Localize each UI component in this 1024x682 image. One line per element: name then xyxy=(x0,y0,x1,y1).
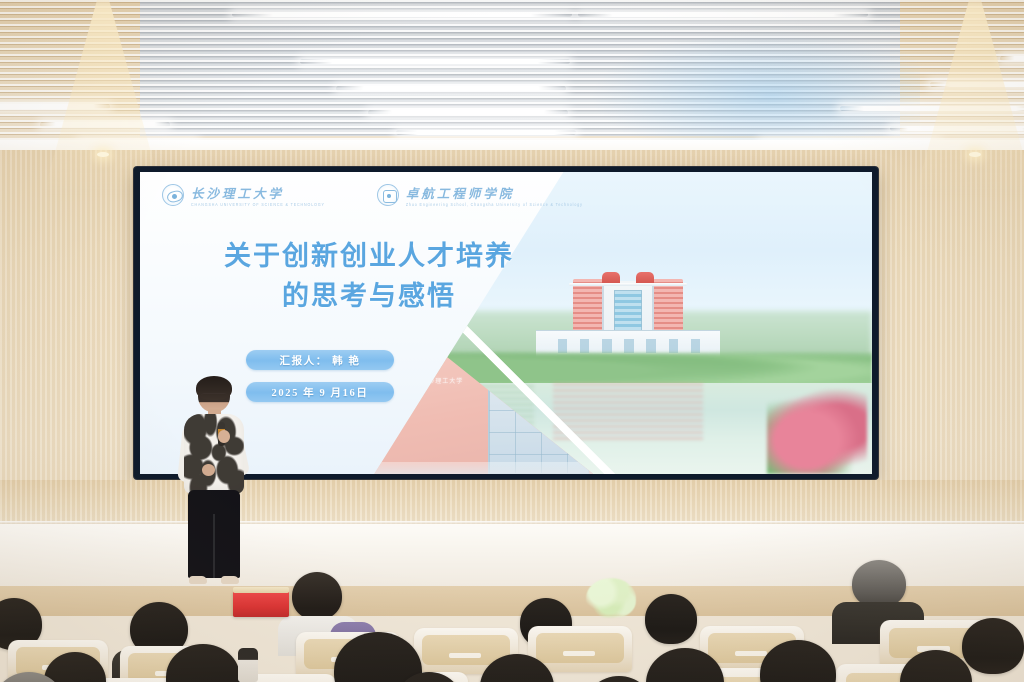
presenter-blouse xyxy=(184,414,244,494)
ceiling-light-strip xyxy=(300,59,570,64)
slide-badges: 汇报人： 韩 艳 2025 年 9 月16日 xyxy=(246,350,394,402)
engineering-school-seal-icon xyxy=(377,184,399,206)
audience-head xyxy=(852,560,906,608)
presenter-badge: 汇报人： 韩 艳 xyxy=(246,350,394,370)
presenter-left-hand xyxy=(202,464,215,476)
logo-en-name: Zhuo Engineering School, Changsha Univer… xyxy=(406,203,583,208)
logo-cn-name: 长沙理工大学 xyxy=(191,183,325,202)
photo-blossom-tree xyxy=(767,389,867,474)
building-roof-bar xyxy=(569,283,687,287)
blouse-pattern xyxy=(184,414,244,494)
presenter-right-hand xyxy=(218,430,230,443)
inset-base xyxy=(374,462,593,474)
ceiling-light-strip xyxy=(368,110,568,115)
slide-title-line-1: 关于创新创业人才培养 xyxy=(154,238,584,276)
logo-en-name: CHANGSHA UNIVERSITY OF SCIENCE & TECHNOL… xyxy=(191,203,325,208)
chair-pad xyxy=(536,633,623,662)
downlight-fixture-right xyxy=(969,152,981,157)
ceiling-light-strip xyxy=(578,12,868,17)
logo-changsha-university: 长沙理工大学 CHANGSHA UNIVERSITY OF SCIENCE & … xyxy=(162,183,325,207)
chair-tag xyxy=(735,651,766,657)
slide-title-line-2: 的思考与感悟 xyxy=(154,278,584,316)
logo-cn-name: 卓航工程师学院 xyxy=(406,183,583,202)
audience-head xyxy=(962,618,1024,674)
slide-logo-bar: 长沙理工大学 CHANGSHA UNIVERSITY OF SCIENCE & … xyxy=(162,183,583,207)
chair-tag xyxy=(449,653,480,659)
logo-engineering-school: 卓航工程师学院 Zhuo Engineering School, Changsh… xyxy=(377,183,583,207)
date-badge: 2025 年 9 月16日 xyxy=(246,382,394,402)
ceiling-light-strip xyxy=(336,86,566,91)
red-gift-box xyxy=(233,591,289,617)
presenter-glasses xyxy=(201,393,227,399)
audience-head xyxy=(292,572,342,620)
flower-arrangement xyxy=(586,578,636,618)
lecture-hall-scene: 长沙理工大学 长沙理工大学 CHANGSHA UNIVERSITY OF SCI… xyxy=(0,0,1024,682)
slide-title: 关于创新创业人才培养 的思考与感悟 xyxy=(154,238,584,317)
downlight-fixture-left xyxy=(97,152,109,157)
ceiling xyxy=(0,0,1024,152)
ceiling-blue-light-cast xyxy=(590,30,920,150)
ceiling-light-strip xyxy=(232,12,572,17)
audience-head xyxy=(586,676,652,682)
chair-tag xyxy=(563,651,594,657)
water-bottle xyxy=(238,648,258,682)
ceiling-light-strip xyxy=(396,130,576,135)
university-seal-icon xyxy=(162,184,184,206)
ceiling-light-strip xyxy=(1000,56,1024,61)
logo-text-group: 长沙理工大学 CHANGSHA UNIVERSITY OF SCIENCE & … xyxy=(191,183,325,207)
audience-head xyxy=(645,594,697,644)
logo-text-group: 卓航工程师学院 Zhuo Engineering School, Changsh… xyxy=(406,183,583,207)
lake-building-reflection xyxy=(553,383,702,439)
presenter-on-stage xyxy=(176,378,254,590)
seated-audience xyxy=(0,560,1024,682)
